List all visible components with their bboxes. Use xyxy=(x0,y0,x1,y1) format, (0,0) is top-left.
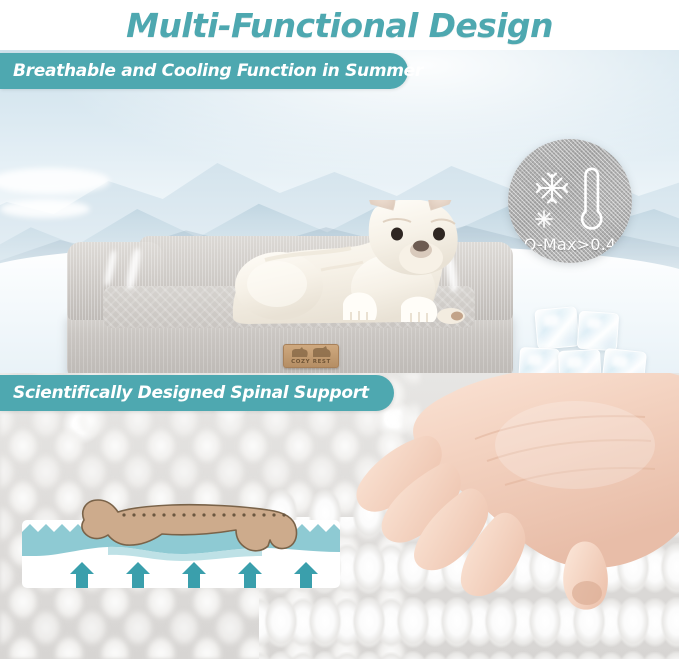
banner-spinal-label: Scientifically Designed Spinal Support xyxy=(13,383,369,403)
page-title-bar: Multi-Functional Design xyxy=(0,0,679,50)
snowflake-small-icon xyxy=(536,211,552,227)
q-max-badge-label: Q-Max>0.4 xyxy=(508,235,632,254)
hand-photo xyxy=(355,373,679,615)
ice-cube xyxy=(534,306,579,350)
thermometer-icon xyxy=(582,169,601,229)
french-bulldog-photo xyxy=(225,200,525,340)
cooling-section: Q-Max>0.4 xyxy=(0,50,679,373)
dog-bed: COZY REST xyxy=(55,218,525,373)
spinal-support-diagram xyxy=(22,490,340,588)
page-title: Multi-Functional Design xyxy=(126,6,553,45)
brand-label-text: COZY REST xyxy=(291,359,331,365)
dog-silhouette-icon xyxy=(289,346,333,359)
ice-cube xyxy=(558,349,602,373)
banner-cooling-label: Breathable and Cooling Function in Summe… xyxy=(13,61,423,81)
snow-streak xyxy=(0,200,90,218)
banner-cooling: Breathable and Cooling Function in Summe… xyxy=(0,53,408,89)
brand-label-tag: COZY REST xyxy=(283,344,339,368)
ice-cube xyxy=(518,347,560,373)
product-feature-image: Multi-Functional Design xyxy=(0,0,679,659)
banner-spinal: Scientifically Designed Spinal Support xyxy=(0,375,394,411)
ice-cube xyxy=(577,311,620,352)
snowflake-large-icon xyxy=(537,174,567,203)
q-max-badge: Q-Max>0.4 xyxy=(508,139,632,263)
ice-cube xyxy=(601,348,647,373)
